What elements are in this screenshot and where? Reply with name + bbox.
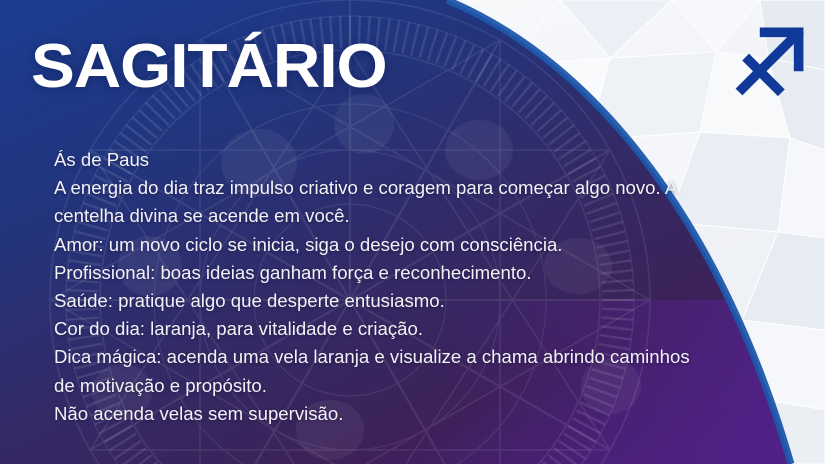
reading-line: Saúde: pratique algo que desperte entusi… <box>54 287 714 315</box>
reading-line: Ás de Paus <box>54 146 714 174</box>
reading-line: A energia do dia traz impulso criativo e… <box>54 174 714 230</box>
reading-line: Cor do dia: laranja, para vitalidade e c… <box>54 315 714 343</box>
horoscope-text: Ás de Paus A energia do dia traz impulso… <box>54 146 714 428</box>
horoscope-card: SAGITÁRIO Ás de Paus A energia do dia tr… <box>0 0 825 464</box>
sagittarius-glyph-icon <box>735 22 809 96</box>
reading-line: Amor: um novo ciclo se inicia, siga o de… <box>54 231 714 259</box>
reading-line: Dica mágica: acenda uma vela laranja e v… <box>54 343 714 399</box>
reading-line: Não acenda velas sem supervisão. <box>54 400 714 428</box>
reading-line: Profissional: boas ideias ganham força e… <box>54 259 714 287</box>
page-title: SAGITÁRIO <box>31 34 387 100</box>
